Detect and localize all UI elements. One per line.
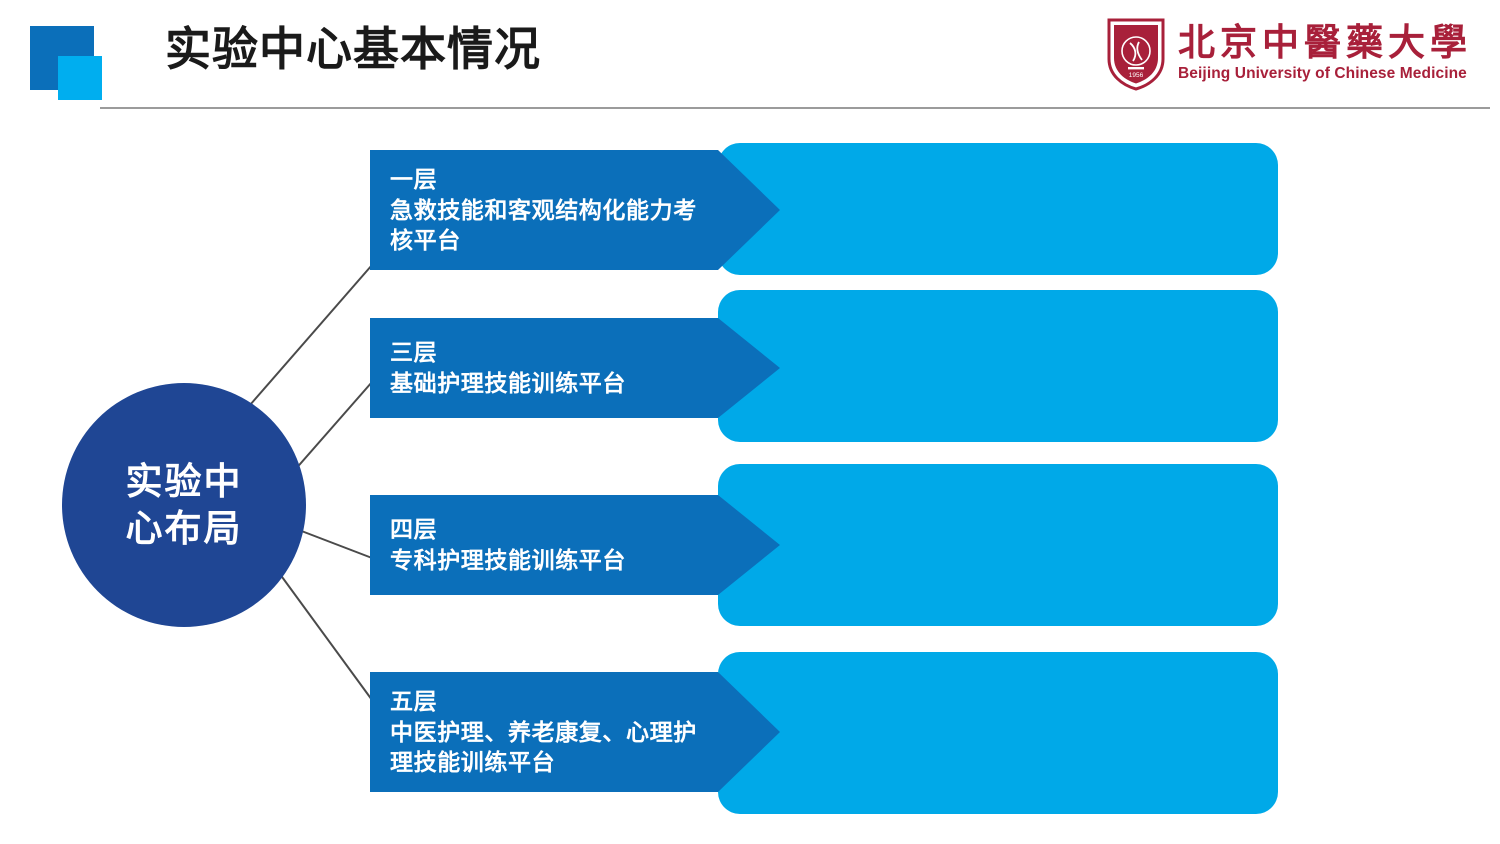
floor-name: 三层 <box>390 337 626 368</box>
slide-canvas: 实验中心基本情况 1956 北京中醫藥大學 Beijing University… <box>0 0 1500 844</box>
arrow-floor-4[interactable]: 四层 专科护理技能训练平台 <box>370 495 780 595</box>
arrow-label-floor-4: 四层 专科护理技能训练平台 <box>370 514 692 575</box>
floor-name: 一层 <box>390 164 714 195</box>
hub-circle: 实验中 心布局 <box>62 383 306 627</box>
platform-name: 中医护理、养老康复、心理护理技能训练平台 <box>390 717 714 778</box>
arrow-label-floor-5: 五层 中医护理、养老康复、心理护理技能训练平台 <box>370 686 780 778</box>
hub-label: 实验中 心布局 <box>109 458 259 553</box>
panel-floor-1 <box>718 143 1278 275</box>
panel-floor-5 <box>718 652 1278 814</box>
arrow-floor-3[interactable]: 三层 基础护理技能训练平台 <box>370 318 780 418</box>
panel-floor-4 <box>718 464 1278 626</box>
hub-label-line2: 心布局 <box>109 505 259 552</box>
arrow-floor-5[interactable]: 五层 中医护理、养老康复、心理护理技能训练平台 <box>370 672 780 792</box>
floor-name: 四层 <box>390 514 626 545</box>
arrow-floor-1[interactable]: 一层 急救技能和客观结构化能力考核平台 <box>370 150 780 270</box>
floor-name: 五层 <box>390 686 714 717</box>
hub-label-line1: 实验中 <box>109 458 259 505</box>
platform-name: 基础护理技能训练平台 <box>390 368 626 399</box>
arrow-label-floor-1: 一层 急救技能和客观结构化能力考核平台 <box>370 164 780 256</box>
panel-floor-3 <box>718 290 1278 442</box>
platform-name: 急救技能和客观结构化能力考核平台 <box>390 195 714 256</box>
platform-name: 专科护理技能训练平台 <box>390 545 626 576</box>
arrow-label-floor-3: 三层 基础护理技能训练平台 <box>370 337 692 398</box>
